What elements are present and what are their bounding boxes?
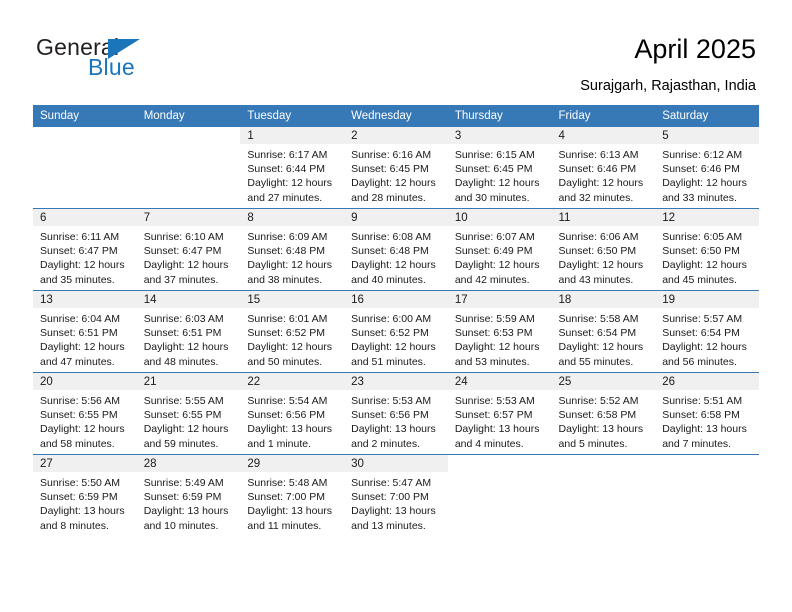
daylight-text-line2: and 59 minutes. [144, 437, 237, 451]
sunrise-text: Sunrise: 6:07 AM [455, 230, 548, 244]
sunrise-text: Sunrise: 6:08 AM [351, 230, 444, 244]
calendar-week-row: 13 Sunrise: 6:04 AM Sunset: 6:51 PM Dayl… [33, 291, 759, 373]
calendar-day-cell[interactable]: 20 Sunrise: 5:56 AM Sunset: 6:55 PM Dayl… [33, 373, 137, 455]
sunrise-text: Sunrise: 5:59 AM [455, 312, 548, 326]
day-cell-content: 24 Sunrise: 5:53 AM Sunset: 6:57 PM Dayl… [448, 373, 552, 454]
day-cell-content: 11 Sunrise: 6:06 AM Sunset: 6:50 PM Dayl… [552, 209, 656, 290]
day-number: 4 [552, 127, 656, 144]
day-number [552, 455, 656, 472]
sunset-text: Sunset: 6:45 PM [455, 162, 548, 176]
calendar-day-cell[interactable]: 2 Sunrise: 6:16 AM Sunset: 6:45 PM Dayli… [344, 127, 448, 209]
sunset-text: Sunset: 6:49 PM [455, 244, 548, 258]
day-cell-content: 17 Sunrise: 5:59 AM Sunset: 6:53 PM Dayl… [448, 291, 552, 372]
sunrise-text: Sunrise: 5:50 AM [40, 476, 133, 490]
sunset-text: Sunset: 6:50 PM [662, 244, 755, 258]
calendar-day-cell[interactable]: 11 Sunrise: 6:06 AM Sunset: 6:50 PM Dayl… [552, 209, 656, 291]
sunrise-text: Sunrise: 6:16 AM [351, 148, 444, 162]
calendar-week-row: 6 Sunrise: 6:11 AM Sunset: 6:47 PM Dayli… [33, 209, 759, 291]
weekday-header-monday: Monday [137, 105, 241, 127]
calendar-day-cell[interactable]: 15 Sunrise: 6:01 AM Sunset: 6:52 PM Dayl… [240, 291, 344, 373]
day-number: 6 [33, 209, 137, 226]
sunrise-text: Sunrise: 6:00 AM [351, 312, 444, 326]
day-number: 15 [240, 291, 344, 308]
day-details: Sunrise: 5:57 AM Sunset: 6:54 PM Dayligh… [655, 308, 759, 369]
day-cell-content: 8 Sunrise: 6:09 AM Sunset: 6:48 PM Dayli… [240, 209, 344, 290]
day-number: 10 [448, 209, 552, 226]
daylight-text-line1: Daylight: 12 hours [351, 176, 444, 190]
day-cell-content: 2 Sunrise: 6:16 AM Sunset: 6:45 PM Dayli… [344, 127, 448, 208]
sunrise-text: Sunrise: 5:57 AM [662, 312, 755, 326]
calendar-day-cell[interactable]: 6 Sunrise: 6:11 AM Sunset: 6:47 PM Dayli… [33, 209, 137, 291]
sunset-text: Sunset: 6:54 PM [662, 326, 755, 340]
day-details: Sunrise: 5:52 AM Sunset: 6:58 PM Dayligh… [552, 390, 656, 451]
sunset-text: Sunset: 6:51 PM [144, 326, 237, 340]
day-details: Sunrise: 6:04 AM Sunset: 6:51 PM Dayligh… [33, 308, 137, 369]
day-number: 1 [240, 127, 344, 144]
daylight-text-line1: Daylight: 12 hours [40, 258, 133, 272]
day-number: 5 [655, 127, 759, 144]
daylight-text-line2: and 42 minutes. [455, 273, 548, 287]
sunrise-text: Sunrise: 6:15 AM [455, 148, 548, 162]
daylight-text-line2: and 11 minutes. [247, 519, 340, 533]
daylight-text-line2: and 56 minutes. [662, 355, 755, 369]
calendar-week-row: 20 Sunrise: 5:56 AM Sunset: 6:55 PM Dayl… [33, 373, 759, 455]
sunset-text: Sunset: 6:46 PM [559, 162, 652, 176]
sunrise-text: Sunrise: 5:55 AM [144, 394, 237, 408]
sunrise-text: Sunrise: 6:03 AM [144, 312, 237, 326]
day-details: Sunrise: 5:50 AM Sunset: 6:59 PM Dayligh… [33, 472, 137, 533]
day-cell-content: 29 Sunrise: 5:48 AM Sunset: 7:00 PM Dayl… [240, 455, 344, 536]
day-cell-content: 25 Sunrise: 5:52 AM Sunset: 6:58 PM Dayl… [552, 373, 656, 454]
daylight-text-line1: Daylight: 12 hours [144, 258, 237, 272]
sunrise-text: Sunrise: 5:52 AM [559, 394, 652, 408]
daylight-text-line1: Daylight: 13 hours [144, 504, 237, 518]
sunrise-text: Sunrise: 5:47 AM [351, 476, 444, 490]
day-details [33, 144, 137, 148]
day-number [448, 455, 552, 472]
daylight-text-line2: and 45 minutes. [662, 273, 755, 287]
daylight-text-line2: and 8 minutes. [40, 519, 133, 533]
calendar-day-cell[interactable]: 4 Sunrise: 6:13 AM Sunset: 6:46 PM Dayli… [552, 127, 656, 209]
day-number: 24 [448, 373, 552, 390]
sunset-text: Sunset: 6:52 PM [247, 326, 340, 340]
daylight-text-line2: and 50 minutes. [247, 355, 340, 369]
sunrise-text: Sunrise: 6:17 AM [247, 148, 340, 162]
sunset-text: Sunset: 6:58 PM [559, 408, 652, 422]
sunset-text: Sunset: 6:47 PM [144, 244, 237, 258]
day-details: Sunrise: 6:13 AM Sunset: 6:46 PM Dayligh… [552, 144, 656, 205]
day-details: Sunrise: 6:15 AM Sunset: 6:45 PM Dayligh… [448, 144, 552, 205]
daylight-text-line2: and 4 minutes. [455, 437, 548, 451]
day-cell-content: 21 Sunrise: 5:55 AM Sunset: 6:55 PM Dayl… [137, 373, 241, 454]
daylight-text-line1: Daylight: 13 hours [559, 422, 652, 436]
day-details: Sunrise: 5:47 AM Sunset: 7:00 PM Dayligh… [344, 472, 448, 533]
daylight-text-line1: Daylight: 12 hours [559, 258, 652, 272]
calendar-day-cell[interactable]: 19 Sunrise: 5:57 AM Sunset: 6:54 PM Dayl… [655, 291, 759, 373]
sunset-text: Sunset: 6:53 PM [455, 326, 548, 340]
day-details: Sunrise: 5:59 AM Sunset: 6:53 PM Dayligh… [448, 308, 552, 369]
daylight-text-line1: Daylight: 12 hours [351, 258, 444, 272]
day-details: Sunrise: 6:12 AM Sunset: 6:46 PM Dayligh… [655, 144, 759, 205]
day-cell-content: 30 Sunrise: 5:47 AM Sunset: 7:00 PM Dayl… [344, 455, 448, 536]
day-cell-content [655, 455, 759, 536]
day-cell-content: 1 Sunrise: 6:17 AM Sunset: 6:44 PM Dayli… [240, 127, 344, 208]
daylight-text-line2: and 35 minutes. [40, 273, 133, 287]
day-number: 19 [655, 291, 759, 308]
calendar-day-cell[interactable]: 10 Sunrise: 6:07 AM Sunset: 6:49 PM Dayl… [448, 209, 552, 291]
day-cell-content: 15 Sunrise: 6:01 AM Sunset: 6:52 PM Dayl… [240, 291, 344, 372]
daylight-text-line2: and 51 minutes. [351, 355, 444, 369]
calendar-day-cell[interactable]: 18 Sunrise: 5:58 AM Sunset: 6:54 PM Dayl… [552, 291, 656, 373]
sunset-text: Sunset: 6:59 PM [40, 490, 133, 504]
weekday-header-friday: Friday [552, 105, 656, 127]
calendar-day-cell[interactable]: 21 Sunrise: 5:55 AM Sunset: 6:55 PM Dayl… [137, 373, 241, 455]
daylight-text-line1: Daylight: 13 hours [455, 422, 548, 436]
calendar-day-cell[interactable] [33, 127, 137, 209]
day-number: 23 [344, 373, 448, 390]
day-number: 28 [137, 455, 241, 472]
page-header: General Blue April 2025 Surajgarh, Rajas… [0, 0, 792, 100]
calendar-day-cell[interactable]: 8 Sunrise: 6:09 AM Sunset: 6:48 PM Dayli… [240, 209, 344, 291]
day-number: 2 [344, 127, 448, 144]
sunrise-text: Sunrise: 5:58 AM [559, 312, 652, 326]
calendar-week-row: 1 Sunrise: 6:17 AM Sunset: 6:44 PM Dayli… [33, 127, 759, 209]
daylight-text-line2: and 27 minutes. [247, 191, 340, 205]
day-cell-content: 14 Sunrise: 6:03 AM Sunset: 6:51 PM Dayl… [137, 291, 241, 372]
daylight-text-line2: and 48 minutes. [144, 355, 237, 369]
daylight-text-line1: Daylight: 12 hours [351, 340, 444, 354]
calendar-page: General Blue April 2025 Surajgarh, Rajas… [0, 0, 792, 612]
day-details: Sunrise: 6:17 AM Sunset: 6:44 PM Dayligh… [240, 144, 344, 205]
calendar-day-cell[interactable]: 7 Sunrise: 6:10 AM Sunset: 6:47 PM Dayli… [137, 209, 241, 291]
calendar-day-cell[interactable]: 28 Sunrise: 5:49 AM Sunset: 6:59 PM Dayl… [137, 455, 241, 537]
logo-text-blue: Blue [88, 54, 135, 80]
day-number: 16 [344, 291, 448, 308]
day-cell-content: 5 Sunrise: 6:12 AM Sunset: 6:46 PM Dayli… [655, 127, 759, 208]
weekday-header-wednesday: Wednesday [344, 105, 448, 127]
day-cell-content: 9 Sunrise: 6:08 AM Sunset: 6:48 PM Dayli… [344, 209, 448, 290]
daylight-text-line2: and 33 minutes. [662, 191, 755, 205]
sunrise-text: Sunrise: 6:11 AM [40, 230, 133, 244]
sunset-text: Sunset: 6:46 PM [662, 162, 755, 176]
day-number: 27 [33, 455, 137, 472]
sunset-text: Sunset: 6:51 PM [40, 326, 133, 340]
daylight-text-line1: Daylight: 12 hours [247, 258, 340, 272]
day-number: 30 [344, 455, 448, 472]
day-cell-content: 22 Sunrise: 5:54 AM Sunset: 6:56 PM Dayl… [240, 373, 344, 454]
sunset-text: Sunset: 6:44 PM [247, 162, 340, 176]
daylight-text-line1: Daylight: 13 hours [247, 422, 340, 436]
daylight-text-line1: Daylight: 13 hours [247, 504, 340, 518]
day-number: 25 [552, 373, 656, 390]
sunrise-text: Sunrise: 6:06 AM [559, 230, 652, 244]
calendar-day-cell[interactable]: 1 Sunrise: 6:17 AM Sunset: 6:44 PM Dayli… [240, 127, 344, 209]
daylight-text-line2: and 7 minutes. [662, 437, 755, 451]
daylight-text-line2: and 37 minutes. [144, 273, 237, 287]
day-number: 17 [448, 291, 552, 308]
day-details: Sunrise: 5:58 AM Sunset: 6:54 PM Dayligh… [552, 308, 656, 369]
day-details: Sunrise: 5:51 AM Sunset: 6:58 PM Dayligh… [655, 390, 759, 451]
day-number: 13 [33, 291, 137, 308]
day-number: 21 [137, 373, 241, 390]
day-details: Sunrise: 6:00 AM Sunset: 6:52 PM Dayligh… [344, 308, 448, 369]
calendar-body: 1 Sunrise: 6:17 AM Sunset: 6:44 PM Dayli… [33, 127, 759, 536]
day-number: 22 [240, 373, 344, 390]
calendar-header-row: Sunday Monday Tuesday Wednesday Thursday… [33, 105, 759, 127]
day-number: 12 [655, 209, 759, 226]
daylight-text-line2: and 13 minutes. [351, 519, 444, 533]
calendar-day-cell[interactable] [137, 127, 241, 209]
calendar-day-cell[interactable]: 22 Sunrise: 5:54 AM Sunset: 6:56 PM Dayl… [240, 373, 344, 455]
daylight-text-line1: Daylight: 13 hours [40, 504, 133, 518]
daylight-text-line1: Daylight: 12 hours [455, 340, 548, 354]
calendar-day-cell[interactable]: 16 Sunrise: 6:00 AM Sunset: 6:52 PM Dayl… [344, 291, 448, 373]
day-cell-content: 10 Sunrise: 6:07 AM Sunset: 6:49 PM Dayl… [448, 209, 552, 290]
sunset-text: Sunset: 7:00 PM [247, 490, 340, 504]
calendar-day-cell[interactable]: 26 Sunrise: 5:51 AM Sunset: 6:58 PM Dayl… [655, 373, 759, 455]
day-number: 8 [240, 209, 344, 226]
calendar-day-cell[interactable] [655, 455, 759, 537]
day-cell-content: 23 Sunrise: 5:53 AM Sunset: 6:56 PM Dayl… [344, 373, 448, 454]
day-details [655, 472, 759, 476]
daylight-text-line1: Daylight: 13 hours [662, 422, 755, 436]
sunrise-sunset-calendar-table: Sunday Monday Tuesday Wednesday Thursday… [33, 105, 759, 536]
sunrise-text: Sunrise: 6:09 AM [247, 230, 340, 244]
sunset-text: Sunset: 6:57 PM [455, 408, 548, 422]
day-details: Sunrise: 5:55 AM Sunset: 6:55 PM Dayligh… [137, 390, 241, 451]
sunset-text: Sunset: 6:50 PM [559, 244, 652, 258]
sunset-text: Sunset: 6:59 PM [144, 490, 237, 504]
sunrise-text: Sunrise: 5:54 AM [247, 394, 340, 408]
daylight-text-line2: and 32 minutes. [559, 191, 652, 205]
day-cell-content: 18 Sunrise: 5:58 AM Sunset: 6:54 PM Dayl… [552, 291, 656, 372]
day-cell-content: 12 Sunrise: 6:05 AM Sunset: 6:50 PM Dayl… [655, 209, 759, 290]
weekday-header-saturday: Saturday [655, 105, 759, 127]
sunrise-text: Sunrise: 5:56 AM [40, 394, 133, 408]
sunrise-text: Sunrise: 6:04 AM [40, 312, 133, 326]
day-number: 20 [33, 373, 137, 390]
day-details: Sunrise: 6:08 AM Sunset: 6:48 PM Dayligh… [344, 226, 448, 287]
sunset-text: Sunset: 6:55 PM [144, 408, 237, 422]
day-details: Sunrise: 6:06 AM Sunset: 6:50 PM Dayligh… [552, 226, 656, 287]
sunset-text: Sunset: 6:52 PM [351, 326, 444, 340]
calendar-week-row: 27 Sunrise: 5:50 AM Sunset: 6:59 PM Dayl… [33, 455, 759, 537]
day-details: Sunrise: 6:05 AM Sunset: 6:50 PM Dayligh… [655, 226, 759, 287]
page-title: April 2025 [634, 34, 756, 64]
sunrise-text: Sunrise: 6:05 AM [662, 230, 755, 244]
daylight-text-line2: and 58 minutes. [40, 437, 133, 451]
sunset-text: Sunset: 6:54 PM [559, 326, 652, 340]
sunset-text: Sunset: 7:00 PM [351, 490, 444, 504]
daylight-text-line1: Daylight: 12 hours [662, 340, 755, 354]
day-number: 9 [344, 209, 448, 226]
calendar-day-cell[interactable]: 17 Sunrise: 5:59 AM Sunset: 6:53 PM Dayl… [448, 291, 552, 373]
sunrise-text: Sunrise: 5:53 AM [351, 394, 444, 408]
sunset-text: Sunset: 6:55 PM [40, 408, 133, 422]
daylight-text-line1: Daylight: 12 hours [662, 176, 755, 190]
day-number: 11 [552, 209, 656, 226]
day-number: 26 [655, 373, 759, 390]
day-details: Sunrise: 5:56 AM Sunset: 6:55 PM Dayligh… [33, 390, 137, 451]
calendar-day-cell[interactable]: 5 Sunrise: 6:12 AM Sunset: 6:46 PM Dayli… [655, 127, 759, 209]
day-cell-content: 6 Sunrise: 6:11 AM Sunset: 6:47 PM Dayli… [33, 209, 137, 290]
daylight-text-line2: and 10 minutes. [144, 519, 237, 533]
day-details: Sunrise: 5:53 AM Sunset: 6:56 PM Dayligh… [344, 390, 448, 451]
daylight-text-line1: Daylight: 13 hours [351, 504, 444, 518]
day-cell-content: 26 Sunrise: 5:51 AM Sunset: 6:58 PM Dayl… [655, 373, 759, 454]
daylight-text-line2: and 43 minutes. [559, 273, 652, 287]
day-details: Sunrise: 6:01 AM Sunset: 6:52 PM Dayligh… [240, 308, 344, 369]
day-details: Sunrise: 5:53 AM Sunset: 6:57 PM Dayligh… [448, 390, 552, 451]
day-number: 3 [448, 127, 552, 144]
calendar-day-cell[interactable]: 29 Sunrise: 5:48 AM Sunset: 7:00 PM Dayl… [240, 455, 344, 537]
day-details: Sunrise: 6:11 AM Sunset: 6:47 PM Dayligh… [33, 226, 137, 287]
daylight-text-line1: Daylight: 12 hours [247, 176, 340, 190]
day-cell-content: 20 Sunrise: 5:56 AM Sunset: 6:55 PM Dayl… [33, 373, 137, 454]
daylight-text-line2: and 47 minutes. [40, 355, 133, 369]
day-number: 14 [137, 291, 241, 308]
day-cell-content: 7 Sunrise: 6:10 AM Sunset: 6:47 PM Dayli… [137, 209, 241, 290]
calendar-day-cell[interactable]: 24 Sunrise: 5:53 AM Sunset: 6:57 PM Dayl… [448, 373, 552, 455]
day-number: 18 [552, 291, 656, 308]
calendar-day-cell[interactable]: 14 Sunrise: 6:03 AM Sunset: 6:51 PM Dayl… [137, 291, 241, 373]
daylight-text-line1: Daylight: 13 hours [351, 422, 444, 436]
daylight-text-line1: Daylight: 12 hours [247, 340, 340, 354]
day-cell-content: 4 Sunrise: 6:13 AM Sunset: 6:46 PM Dayli… [552, 127, 656, 208]
calendar-day-cell[interactable] [448, 455, 552, 537]
day-number [655, 455, 759, 472]
day-cell-content [448, 455, 552, 536]
day-details: Sunrise: 6:10 AM Sunset: 6:47 PM Dayligh… [137, 226, 241, 287]
calendar-day-cell[interactable]: 23 Sunrise: 5:53 AM Sunset: 6:56 PM Dayl… [344, 373, 448, 455]
day-details [137, 144, 241, 148]
calendar-day-cell[interactable]: 9 Sunrise: 6:08 AM Sunset: 6:48 PM Dayli… [344, 209, 448, 291]
calendar-day-cell[interactable]: 25 Sunrise: 5:52 AM Sunset: 6:58 PM Dayl… [552, 373, 656, 455]
daylight-text-line1: Daylight: 12 hours [455, 176, 548, 190]
day-number [137, 127, 241, 144]
sunset-text: Sunset: 6:58 PM [662, 408, 755, 422]
sunrise-text: Sunrise: 5:48 AM [247, 476, 340, 490]
daylight-text-line2: and 1 minute. [247, 437, 340, 451]
sunset-text: Sunset: 6:47 PM [40, 244, 133, 258]
daylight-text-line1: Daylight: 12 hours [662, 258, 755, 272]
daylight-text-line2: and 55 minutes. [559, 355, 652, 369]
day-cell-content [137, 127, 241, 208]
day-details [448, 472, 552, 476]
day-cell-content [552, 455, 656, 536]
weekday-header-thursday: Thursday [448, 105, 552, 127]
day-details: Sunrise: 5:49 AM Sunset: 6:59 PM Dayligh… [137, 472, 241, 533]
day-number: 29 [240, 455, 344, 472]
sunrise-text: Sunrise: 6:13 AM [559, 148, 652, 162]
day-cell-content: 27 Sunrise: 5:50 AM Sunset: 6:59 PM Dayl… [33, 455, 137, 536]
day-number: 7 [137, 209, 241, 226]
day-details: Sunrise: 6:03 AM Sunset: 6:51 PM Dayligh… [137, 308, 241, 369]
daylight-text-line1: Daylight: 12 hours [559, 340, 652, 354]
daylight-text-line1: Daylight: 12 hours [40, 422, 133, 436]
calendar-day-cell[interactable]: 27 Sunrise: 5:50 AM Sunset: 6:59 PM Dayl… [33, 455, 137, 537]
daylight-text-line2: and 38 minutes. [247, 273, 340, 287]
daylight-text-line2: and 53 minutes. [455, 355, 548, 369]
sunrise-text: Sunrise: 5:53 AM [455, 394, 548, 408]
day-details [552, 472, 656, 476]
calendar-day-cell[interactable]: 30 Sunrise: 5:47 AM Sunset: 7:00 PM Dayl… [344, 455, 448, 537]
day-number [33, 127, 137, 144]
daylight-text-line2: and 28 minutes. [351, 191, 444, 205]
day-cell-content: 13 Sunrise: 6:04 AM Sunset: 6:51 PM Dayl… [33, 291, 137, 372]
day-cell-content: 19 Sunrise: 5:57 AM Sunset: 6:54 PM Dayl… [655, 291, 759, 372]
sunset-text: Sunset: 6:56 PM [247, 408, 340, 422]
daylight-text-line1: Daylight: 12 hours [455, 258, 548, 272]
sunrise-text: Sunrise: 6:12 AM [662, 148, 755, 162]
calendar-day-cell[interactable]: 13 Sunrise: 6:04 AM Sunset: 6:51 PM Dayl… [33, 291, 137, 373]
sunset-text: Sunset: 6:45 PM [351, 162, 444, 176]
weekday-header-tuesday: Tuesday [240, 105, 344, 127]
daylight-text-line2: and 40 minutes. [351, 273, 444, 287]
daylight-text-line1: Daylight: 12 hours [40, 340, 133, 354]
day-details: Sunrise: 6:16 AM Sunset: 6:45 PM Dayligh… [344, 144, 448, 205]
sunrise-text: Sunrise: 6:10 AM [144, 230, 237, 244]
daylight-text-line2: and 5 minutes. [559, 437, 652, 451]
day-details: Sunrise: 5:48 AM Sunset: 7:00 PM Dayligh… [240, 472, 344, 533]
day-cell-content: 16 Sunrise: 6:00 AM Sunset: 6:52 PM Dayl… [344, 291, 448, 372]
day-cell-content: 28 Sunrise: 5:49 AM Sunset: 6:59 PM Dayl… [137, 455, 241, 536]
day-cell-content: 3 Sunrise: 6:15 AM Sunset: 6:45 PM Dayli… [448, 127, 552, 208]
day-details: Sunrise: 6:09 AM Sunset: 6:48 PM Dayligh… [240, 226, 344, 287]
daylight-text-line1: Daylight: 12 hours [559, 176, 652, 190]
sunrise-text: Sunrise: 5:49 AM [144, 476, 237, 490]
day-details: Sunrise: 5:54 AM Sunset: 6:56 PM Dayligh… [240, 390, 344, 451]
sunrise-text: Sunrise: 6:01 AM [247, 312, 340, 326]
sunset-text: Sunset: 6:48 PM [351, 244, 444, 258]
calendar-day-cell[interactable]: 3 Sunrise: 6:15 AM Sunset: 6:45 PM Dayli… [448, 127, 552, 209]
daylight-text-line2: and 2 minutes. [351, 437, 444, 451]
daylight-text-line1: Daylight: 12 hours [144, 340, 237, 354]
sunset-text: Sunset: 6:56 PM [351, 408, 444, 422]
daylight-text-line2: and 30 minutes. [455, 191, 548, 205]
calendar-day-cell[interactable] [552, 455, 656, 537]
sunset-text: Sunset: 6:48 PM [247, 244, 340, 258]
calendar-day-cell[interactable]: 12 Sunrise: 6:05 AM Sunset: 6:50 PM Dayl… [655, 209, 759, 291]
general-blue-logo[interactable]: General Blue [36, 34, 196, 82]
daylight-text-line1: Daylight: 12 hours [144, 422, 237, 436]
day-cell-content [33, 127, 137, 208]
page-subtitle-location: Surajgarh, Rajasthan, India [580, 78, 756, 94]
sunrise-text: Sunrise: 5:51 AM [662, 394, 755, 408]
day-details: Sunrise: 6:07 AM Sunset: 6:49 PM Dayligh… [448, 226, 552, 287]
weekday-header-sunday: Sunday [33, 105, 137, 127]
